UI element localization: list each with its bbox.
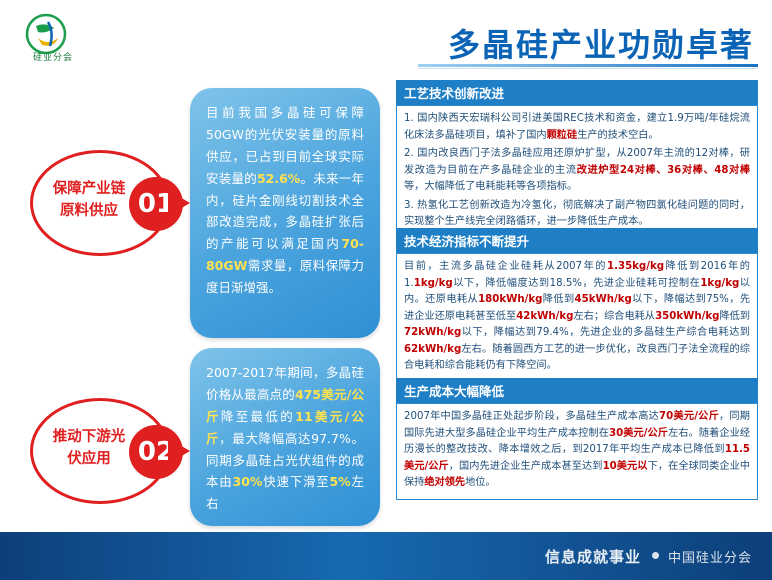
bubble-2-text: 2007-2017年期间，多晶硅价格从最高点的475美元/公斤降至最低的11美元… [206,365,364,511]
section-3-body: 2007年中国多晶硅正处起步阶段，多晶硅生产成本高达70美元/公斤，同期国际先进… [396,403,758,500]
slide-header: 硅业分会 多晶硅产业功勋卓著 [0,0,772,72]
footer-bullet-icon [652,552,659,559]
highlight-bubble-2: 2007-2017年期间，多晶硅价格从最高点的475美元/公斤降至最低的11美元… [190,348,380,526]
section-paragraph: 目前，主流多晶硅企业硅耗从2007年的1.35kg/kg降低到2016年的1.1… [404,259,750,375]
arrow-icon-1 [168,190,190,216]
section-paragraph: 1. 国内陕西天宏瑞科公司引进美国REC技术和资金，建立1.9万吨/年硅烷流化床… [404,111,750,144]
bubble-1-text: 目前我国多晶硅可保障50GW的光伏安装量的原料供应，已占到目前全球实际安装量的5… [206,105,364,295]
footer-slogan: 信息成就事业 [545,546,641,567]
callout-label-2: 推动下游光伏应用 [41,427,137,471]
title-underline-secondary [418,68,758,69]
callout-label-1: 保障产业链原料供应 [41,179,137,223]
callout-circle-2: 推动下游光伏应用 02 [30,398,170,504]
title-underline [418,64,758,67]
section-1-body: 1. 国内陕西天宏瑞科公司引进美国REC技术和资金，建立1.9万吨/年硅烷流化床… [396,105,758,239]
slide-footer: 信息成就事业 中国硅业分会 [0,532,772,580]
section-2-body: 目前，主流多晶硅企业硅耗从2007年的1.35kg/kg降低到2016年的1.1… [396,253,758,383]
logo-caption: 硅业分会 [20,50,86,63]
callout-circle-1: 保障产业链原料供应 01 [30,150,170,256]
arrow-icon-2 [168,438,190,464]
highlight-bubble-1: 目前我国多晶硅可保障50GW的光伏安装量的原料供应，已占到目前全球实际安装量的5… [190,88,380,338]
section-1-heading: 工艺技术创新改进 [396,80,758,105]
section-paragraph: 2007年中国多晶硅正处起步阶段，多晶硅生产成本高达70美元/公斤，同期国际先进… [404,409,750,492]
section-1: 工艺技术创新改进 1. 国内陕西天宏瑞科公司引进美国REC技术和资金，建立1.9… [396,80,758,239]
section-paragraph: 2. 国内改良西门子法多晶硅应用还原炉扩型，从2007年主流的12对棒，研发改造… [404,146,750,196]
section-paragraph: 3. 热氢化工艺创新改造为冷氢化，彻底解决了副产物四氯化硅问题的同时，实现整个生… [404,198,750,231]
slide: 硅业分会 多晶硅产业功勋卓著 目前我国多晶硅可保障50GW的光伏安装量的原料供应… [0,0,772,580]
section-3: 生产成本大幅降低 2007年中国多晶硅正处起步阶段，多晶硅生产成本高达70美元/… [396,378,758,500]
section-3-heading: 生产成本大幅降低 [396,378,758,403]
page-title: 多晶硅产业功勋卓著 [448,20,754,66]
section-2-heading: 技术经济指标不断提升 [396,228,758,253]
footer-org: 中国硅业分会 [668,547,752,566]
section-2: 技术经济指标不断提升 目前，主流多晶硅企业硅耗从2007年的1.35kg/kg降… [396,228,758,383]
